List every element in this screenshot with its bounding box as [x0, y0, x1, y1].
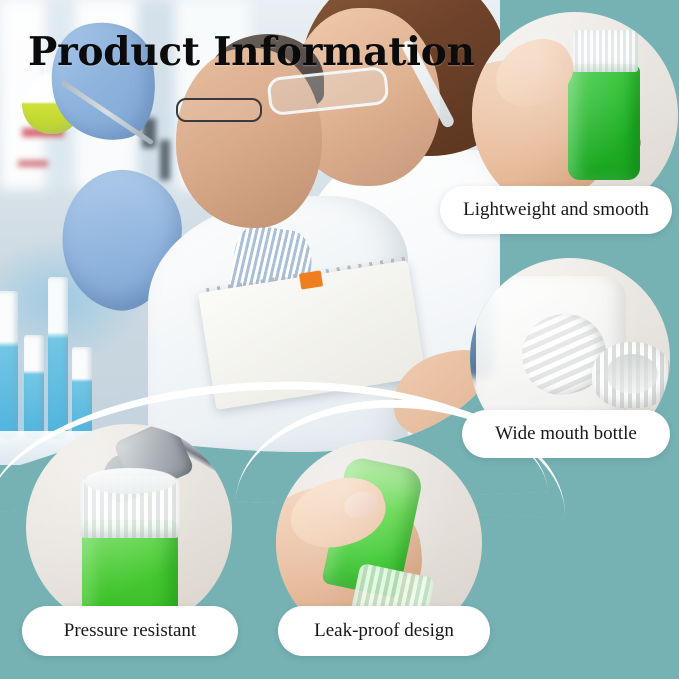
feature-label-wide-mouth: Wide mouth bottle [462, 410, 670, 458]
feature-image-pressure-resistant [26, 424, 232, 630]
feature-label-pressure-resistant: Pressure resistant [22, 606, 238, 656]
infographic-canvas: Product Information Lightweight and smoo… [0, 0, 679, 679]
bottle-cap-top [84, 468, 176, 494]
green-liquid-bottle [568, 64, 640, 180]
feature-label-leak-proof: Leak-proof design [278, 606, 490, 656]
test-tube [0, 291, 18, 439]
bottle-cap [572, 30, 638, 72]
eyeglasses [176, 98, 262, 122]
feature-label-lightweight: Lightweight and smooth [440, 186, 672, 234]
test-tube [24, 335, 44, 439]
lab-equipment-knob [160, 140, 170, 180]
lab-equipment-indicator [18, 160, 48, 167]
orange-bookmark-tab [299, 270, 323, 289]
page-title: Product Information [28, 32, 475, 73]
test-tube [48, 277, 68, 439]
bottle-cap-inner [606, 354, 658, 394]
